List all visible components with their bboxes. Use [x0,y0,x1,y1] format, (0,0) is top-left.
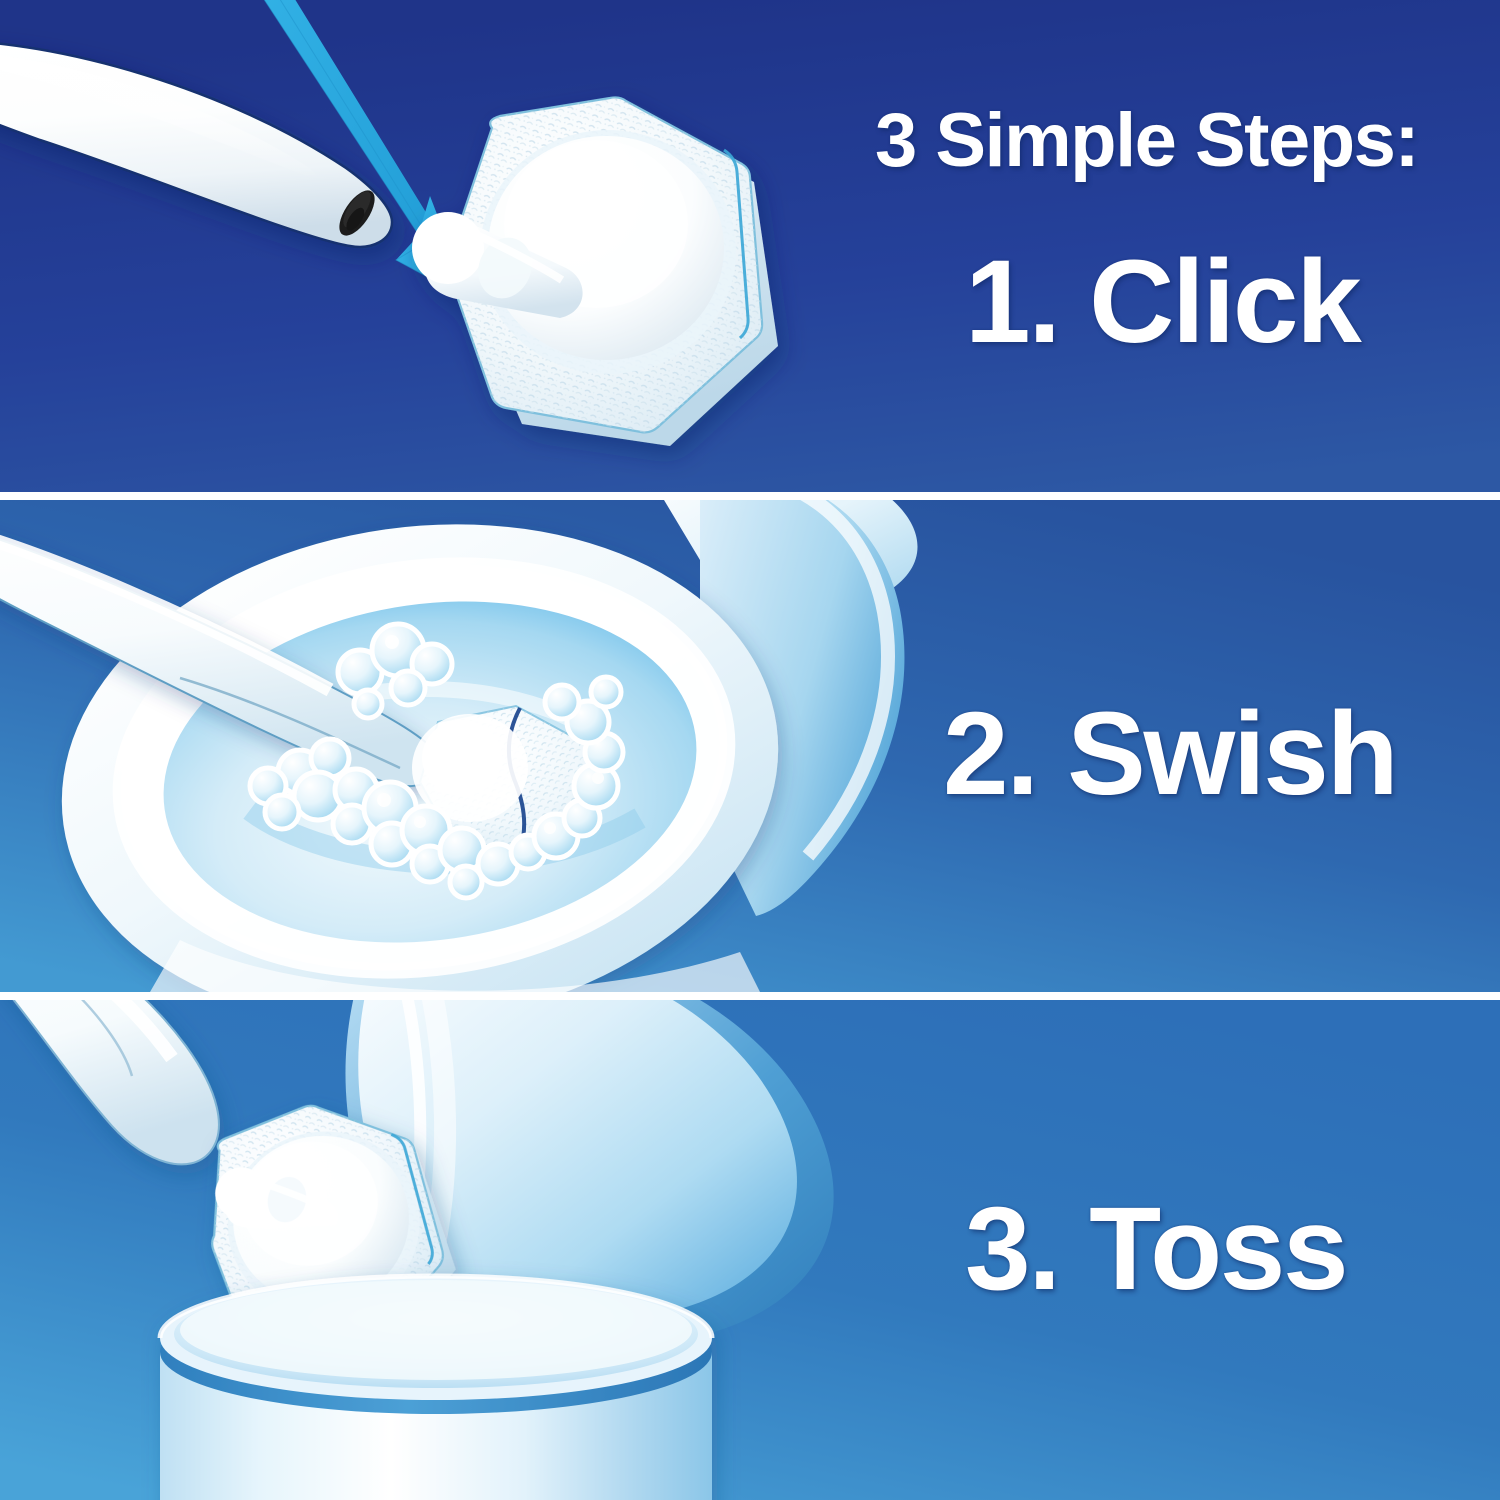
three-simple-steps-graphic: 3 Simple Steps: 1. Click 2. Swish 3. Tos… [0,0,1500,1500]
panel-step-3-toss [0,1000,1500,1500]
panel-1-illustration [0,0,1500,492]
panel-step-1-click [0,0,1500,492]
panel-divider-1 [0,492,1500,500]
panel-step-2-swish [0,500,1500,992]
panel-2-illustration [0,500,1500,992]
panel-divider-2 [0,992,1500,1000]
trash-can-icon [160,1276,712,1500]
panel-3-illustration [0,1000,1500,1500]
